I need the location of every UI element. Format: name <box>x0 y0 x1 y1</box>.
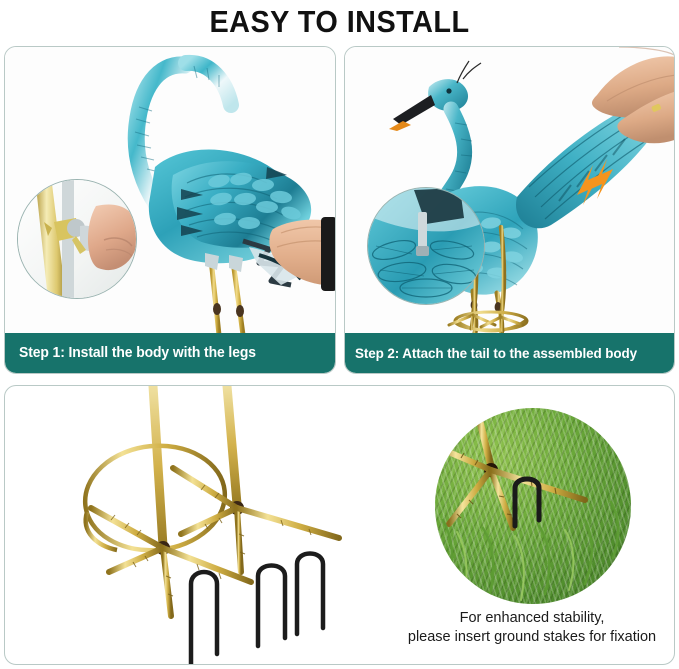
step2-image <box>345 47 675 333</box>
step1-caption-text: Step 1: Install the body with the legs <box>19 345 256 361</box>
stability-note-line2: please insert ground stakes for fixation <box>406 628 658 648</box>
step1-image <box>5 47 335 333</box>
step2-panel: Step 2: Attach the tail to the assembled… <box>344 46 676 374</box>
ground-stakes-panel: For enhanced stability, please insert gr… <box>4 385 675 665</box>
step1-detail-inset <box>17 179 137 299</box>
stability-note-line1: For enhanced stability, <box>406 609 658 629</box>
ground-stakes-illustration <box>5 386 465 664</box>
grass-stake-inset <box>435 408 631 604</box>
tail-slot-detail-illustration <box>368 188 485 305</box>
steps-row: Step 1: Install the body with the legs <box>4 46 675 374</box>
step2-caption-text: Step 2: Attach the tail to the assembled… <box>355 345 637 361</box>
step1-panel: Step 1: Install the body with the legs <box>4 46 336 374</box>
page-title: EASY TO INSTALL <box>24 0 655 44</box>
foot-in-grass-illustration <box>435 408 631 604</box>
step2-caption-bar: Step 2: Attach the tail to the assembled… <box>345 333 675 373</box>
step2-detail-inset <box>367 187 485 305</box>
step1-caption-bar: Step 1: Install the body with the legs <box>5 333 335 373</box>
screw-detail-illustration <box>18 180 137 299</box>
stability-note: For enhanced stability, please insert gr… <box>406 609 658 648</box>
